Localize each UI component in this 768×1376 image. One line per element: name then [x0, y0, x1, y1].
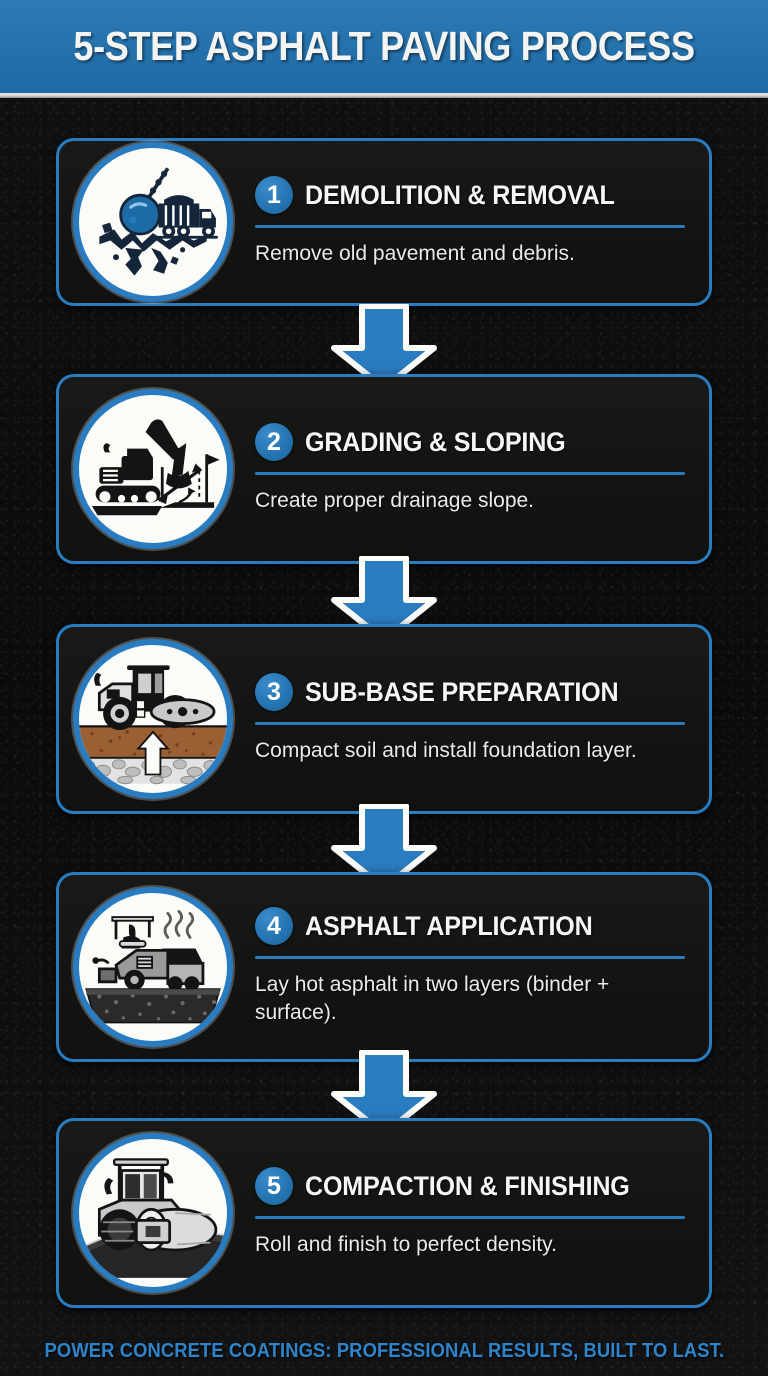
- step-body-2: 2 Grading & Sloping Create proper draina…: [233, 423, 709, 515]
- step-title-2: Grading & Sloping: [305, 427, 566, 458]
- step-description-2: Create proper drainage slope.: [255, 487, 685, 515]
- step-body-5: 5 Compaction & Finishing Roll and finish…: [233, 1167, 709, 1259]
- road-roller-icon: [73, 1133, 233, 1293]
- step-body-4: 4 Asphalt Application Lay hot asphalt in…: [233, 907, 709, 1026]
- step-number-badge-3: 3: [255, 673, 293, 711]
- step-title-row-4: 4 Asphalt Application: [255, 907, 685, 945]
- asphalt-paver-icon: [73, 887, 233, 1047]
- header-divider-rule: [0, 93, 768, 98]
- step-title-4: Asphalt Application: [305, 911, 593, 942]
- page-title: 5-Step Asphalt Paving Process: [73, 23, 694, 70]
- wrecking-ball-dump-truck-icon: [73, 142, 233, 302]
- step-description-3: Compact soil and install foundation laye…: [255, 737, 685, 765]
- step-number-badge-5: 5: [255, 1167, 293, 1205]
- step-title-row-3: 3 Sub-Base Preparation: [255, 673, 685, 711]
- roller-soil-gravel-layers-icon: [73, 639, 233, 799]
- step-description-1: Remove old pavement and debris.: [255, 240, 685, 268]
- step-divider-2: [255, 472, 685, 475]
- step-title-5: Compaction & Finishing: [305, 1171, 630, 1202]
- step-body-3: 3 Sub-Base Preparation Compact soil and …: [233, 673, 709, 765]
- step-card-1[interactable]: 1 Demolition & Removal Remove old paveme…: [56, 138, 712, 306]
- step-card-4[interactable]: 4 Asphalt Application Lay hot asphalt in…: [56, 872, 712, 1062]
- step-divider-3: [255, 722, 685, 725]
- infographic-page: 5-Step Asphalt Paving Process: [0, 0, 768, 1376]
- header-banner: 5-Step Asphalt Paving Process: [0, 0, 768, 93]
- step-card-3[interactable]: 3 Sub-Base Preparation Compact soil and …: [56, 624, 712, 814]
- step-title-3: Sub-Base Preparation: [305, 677, 618, 708]
- step-title-row-5: 5 Compaction & Finishing: [255, 1167, 685, 1205]
- step-title-row-2: 2 Grading & Sloping: [255, 423, 685, 461]
- step-card-2[interactable]: 2 Grading & Sloping Create proper draina…: [56, 374, 712, 564]
- footer-tagline: Power Concrete Coatings: Professional Re…: [44, 1340, 724, 1363]
- step-title-1: Demolition & Removal: [305, 180, 615, 211]
- step-number-badge-2: 2: [255, 423, 293, 461]
- step-number-badge-4: 4: [255, 907, 293, 945]
- step-divider-5: [255, 1216, 685, 1219]
- step-card-5[interactable]: 5 Compaction & Finishing Roll and finish…: [56, 1118, 712, 1308]
- step-body-1: 1 Demolition & Removal Remove old paveme…: [233, 176, 709, 268]
- step-divider-1: [255, 225, 685, 228]
- footer-banner: Power Concrete Coatings: Professional Re…: [0, 1326, 768, 1376]
- step-title-row-1: 1 Demolition & Removal: [255, 176, 685, 214]
- step-divider-4: [255, 956, 685, 959]
- step-number-badge-1: 1: [255, 176, 293, 214]
- excavator-slope-icon: [73, 389, 233, 549]
- step-description-4: Lay hot asphalt in two layers (binder + …: [255, 971, 685, 1026]
- step-description-5: Roll and finish to perfect density.: [255, 1231, 685, 1259]
